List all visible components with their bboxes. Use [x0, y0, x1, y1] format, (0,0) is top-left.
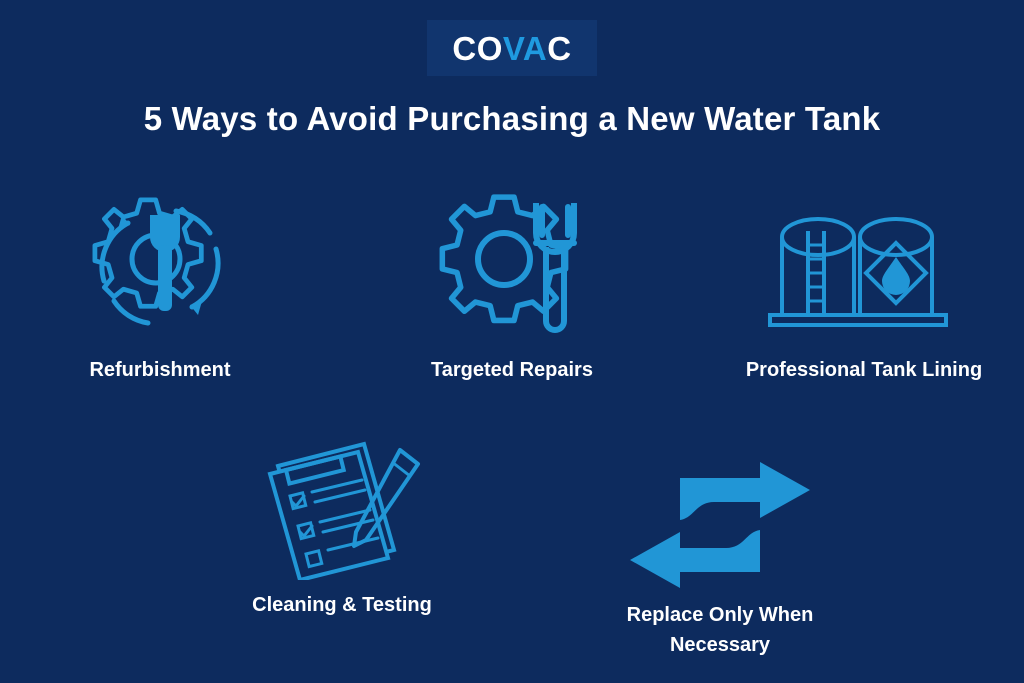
clipboard-checklist-pen-icon — [222, 430, 462, 580]
swap-arrows-icon — [600, 440, 840, 590]
item-refurbishment-label: Refurbishment — [40, 355, 280, 385]
gear-wrench-icon — [392, 185, 632, 345]
item-cleaning-testing: Cleaning & Testing — [222, 430, 462, 620]
item-targeted-repairs-label: Targeted Repairs — [392, 355, 632, 385]
item-targeted-repairs: Targeted Repairs — [392, 185, 632, 385]
page-title: 5 Ways to Avoid Purchasing a New Water T… — [0, 100, 1024, 138]
infographic-canvas: COVAC 5 Ways to Avoid Purchasing a New W… — [0, 0, 1024, 683]
logo-text-part2: VA — [503, 30, 547, 67]
gear-wrench-cycle-icon — [40, 185, 280, 345]
covac-logo: COVAC — [427, 20, 597, 76]
item-cleaning-testing-label: Cleaning & Testing — [222, 590, 462, 620]
item-refurbishment: Refurbishment — [40, 185, 280, 385]
item-replace-only-label: Replace Only When Necessary — [600, 600, 840, 660]
item-replace-only: Replace Only When Necessary — [600, 440, 840, 660]
logo-text: COVAC — [452, 32, 571, 65]
item-tank-lining: Professional Tank Lining — [744, 185, 984, 385]
logo-text-part1: CO — [452, 30, 503, 67]
item-tank-lining-label: Professional Tank Lining — [744, 355, 984, 385]
storage-tanks-icon — [744, 185, 984, 345]
logo-text-part3: C — [547, 30, 571, 67]
